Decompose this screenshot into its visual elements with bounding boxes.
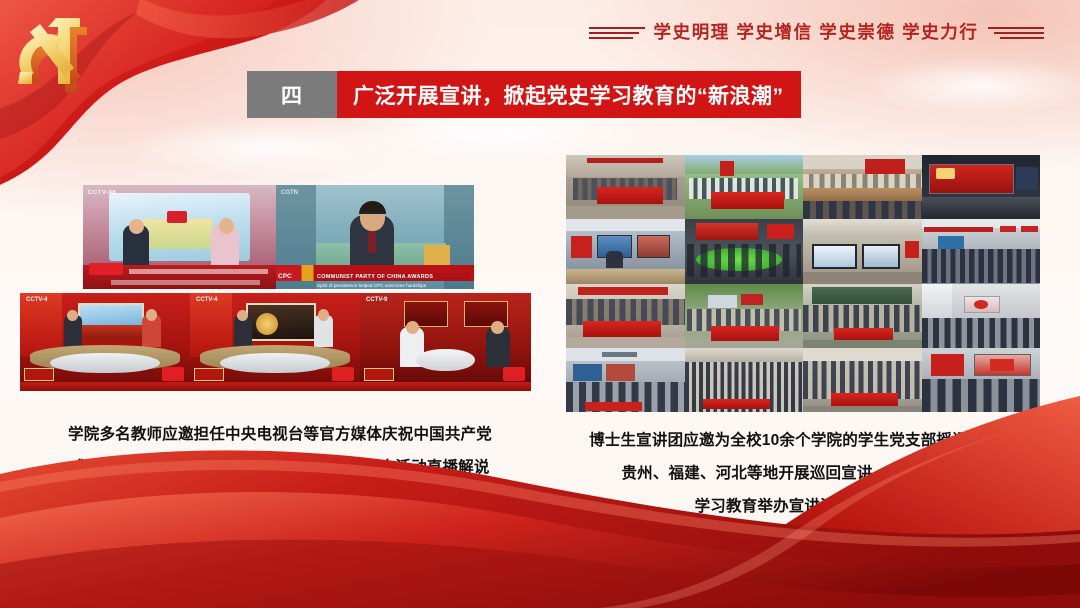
photo-classroom-monitors [566,219,685,283]
cctv-photo-row-top: CCTV-4K CPC COMMUNIST PARTY OF CHINA AWA… [83,185,474,289]
photo-seminar-room [803,155,922,219]
photo-cctv-studio-2: CCTV-4 [190,293,360,391]
photo-cctv-studio-3: CCTV-9 [360,293,531,391]
photo-cctv-news-anchors: CCTV-4K [83,185,276,289]
slogan-text: 学史明理 学史增信 学史崇德 学史力行 [654,24,979,42]
photo-cctv-studio-1: CCTV-4 [20,293,190,391]
section-title-text: 广泛开展宣讲，掀起党史学习教育的“新浪潮” [337,71,801,118]
cctv-watermark: CCTV-4 [196,297,217,303]
hammer-and-sickle-emblem [12,14,104,100]
cctv-photo-row-bottom: CCTV-4 CCTV-4 [20,293,531,391]
photo-cgtn-interview: CPC COMMUNIST PARTY OF CHINA AWARDS Spir… [276,185,474,289]
photo-group-steps [566,155,685,219]
cgtn-watermark: CGTN [281,190,298,196]
cctv-watermark: CCTV-4 [26,297,47,303]
cctv-watermark: CCTV-9 [366,297,387,303]
photo-study-room [922,284,1041,348]
lecture-photo-grid [566,155,1040,412]
slogan-banner: 学史明理 学史增信 学史崇德 学史力行 [556,14,1076,52]
broadcast-banner-title: COMMUNIST PARTY OF CHINA AWARDS [317,274,433,280]
broadcast-banner-subtitle: Spirit of persistence helped CPC overcom… [317,283,426,288]
photo-dual-screens [803,219,922,283]
red-ribbon-decoration [0,378,1080,608]
slogan-rule-right [988,26,1044,40]
photo-round-table [685,219,804,283]
photo-outdoor-group-2 [685,284,804,348]
section-title-bar: 四 广泛开展宣讲，掀起党史学习教育的“新浪潮” [247,71,801,118]
photo-classroom-group [803,284,922,348]
section-number: 四 [247,71,337,118]
photo-auditorium-screen [922,155,1041,219]
photo-indoor-group [566,284,685,348]
slide-root: 学史明理 学史增信 学史崇德 学史力行 四 广泛开展宣讲，掀起党史学习教育的“新… [0,0,1080,608]
cctv-watermark: CCTV-4K [88,190,117,196]
cpc-logo-text: CPC [278,273,292,280]
photo-large-classroom [922,219,1041,283]
photo-group-outdoor [685,155,804,219]
slogan-rule-left [589,26,645,40]
